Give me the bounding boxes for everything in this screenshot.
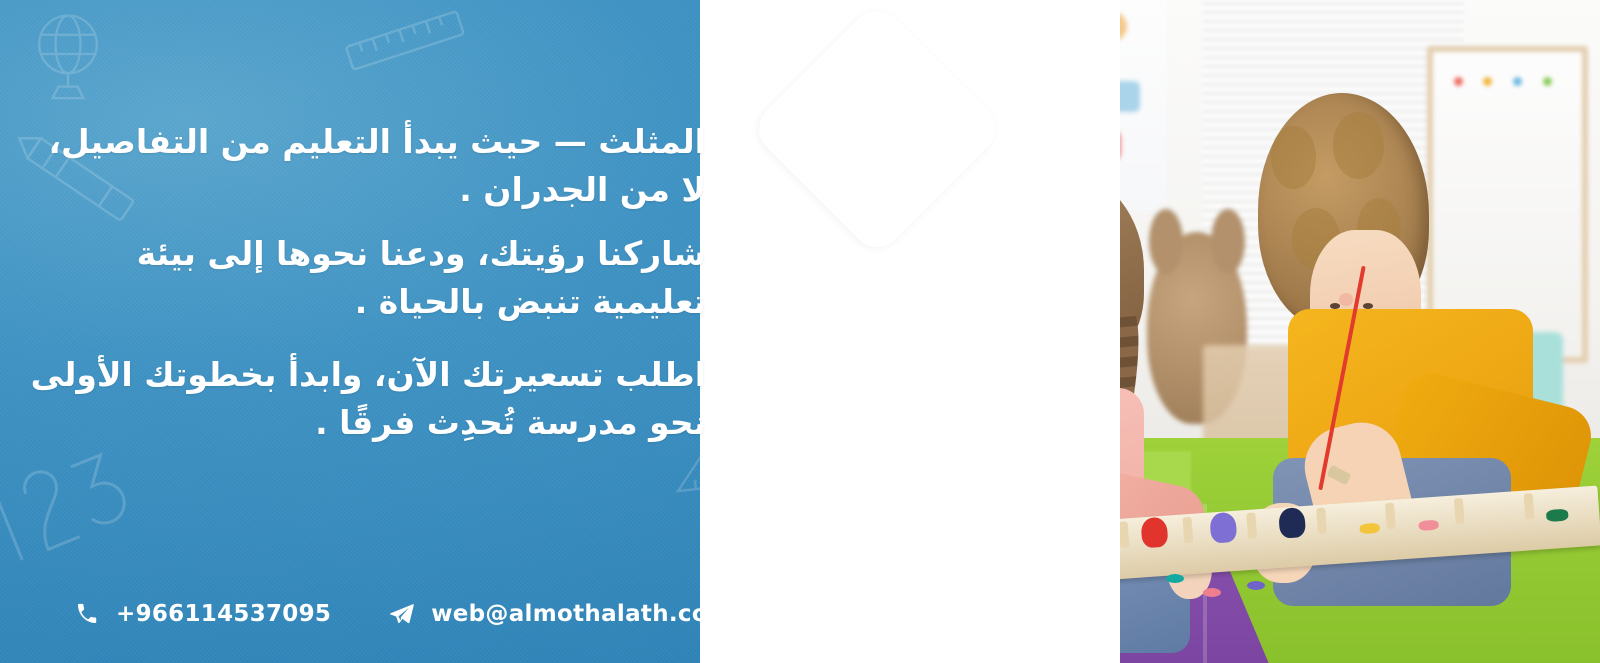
toy-disc xyxy=(1247,581,1265,590)
message-block: المثلث — حيث يبدأ التعليم من التفاصيل، ل… xyxy=(0,0,760,663)
bullet-item-2: شاركنا رؤيتك، ودعنا نحوها إلى بيئة تعليم… xyxy=(22,230,732,326)
bullet-item-3: اطلب تسعيرتك الآن، وابدأ بخطوتك الأولى ن… xyxy=(22,351,732,447)
contact-email[interactable]: web@almothalath.com xyxy=(387,599,732,629)
boy-in-yellow-shirt xyxy=(1228,93,1600,663)
toy-disc xyxy=(1203,588,1221,597)
contact-phone[interactable]: +966114537095 xyxy=(72,599,331,629)
contact-bar: +966114537095 web@almothalath.com xyxy=(0,599,760,629)
phone-icon xyxy=(72,599,102,629)
paper-plane-icon xyxy=(387,599,417,629)
bullet-list: المثلث — حيث يبدأ التعليم من التفاصيل، ل… xyxy=(22,118,732,447)
email-address: web@almothalath.com xyxy=(431,601,732,627)
phone-number: +966114537095 xyxy=(116,601,331,627)
promo-banner: المثلث — حيث يبدأ التعليم من التفاصيل، ل… xyxy=(0,0,1600,663)
bullet-item-1: المثلث — حيث يبدأ التعليم من التفاصيل، ل… xyxy=(22,118,732,214)
